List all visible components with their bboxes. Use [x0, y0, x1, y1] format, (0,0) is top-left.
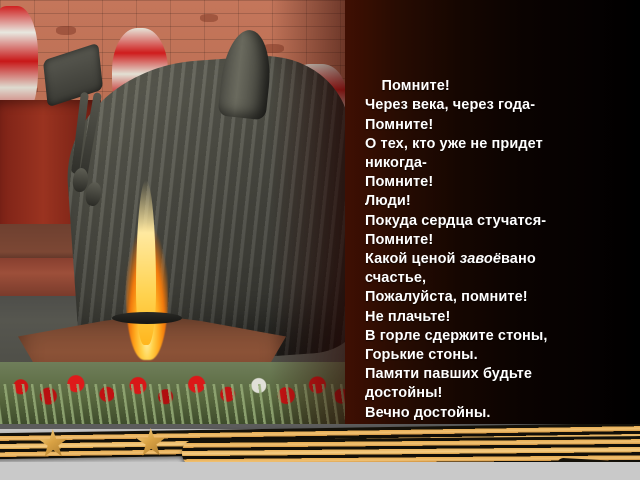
poem-body: Помните! Через века, через года- Помните… — [365, 78, 548, 420]
eternal-flame-photo — [0, 0, 345, 424]
poem-emphasis: завоё — [460, 251, 501, 267]
memorial-slide: Помните! Через века, через года- Помните… — [0, 0, 640, 480]
flame-burner — [112, 312, 182, 324]
poem-text: Помните! Через века, через года- Помните… — [365, 58, 627, 442]
ribbon-under-bar — [0, 462, 640, 480]
st-george-ribbon — [0, 424, 640, 480]
flower-greenery — [0, 384, 345, 424]
